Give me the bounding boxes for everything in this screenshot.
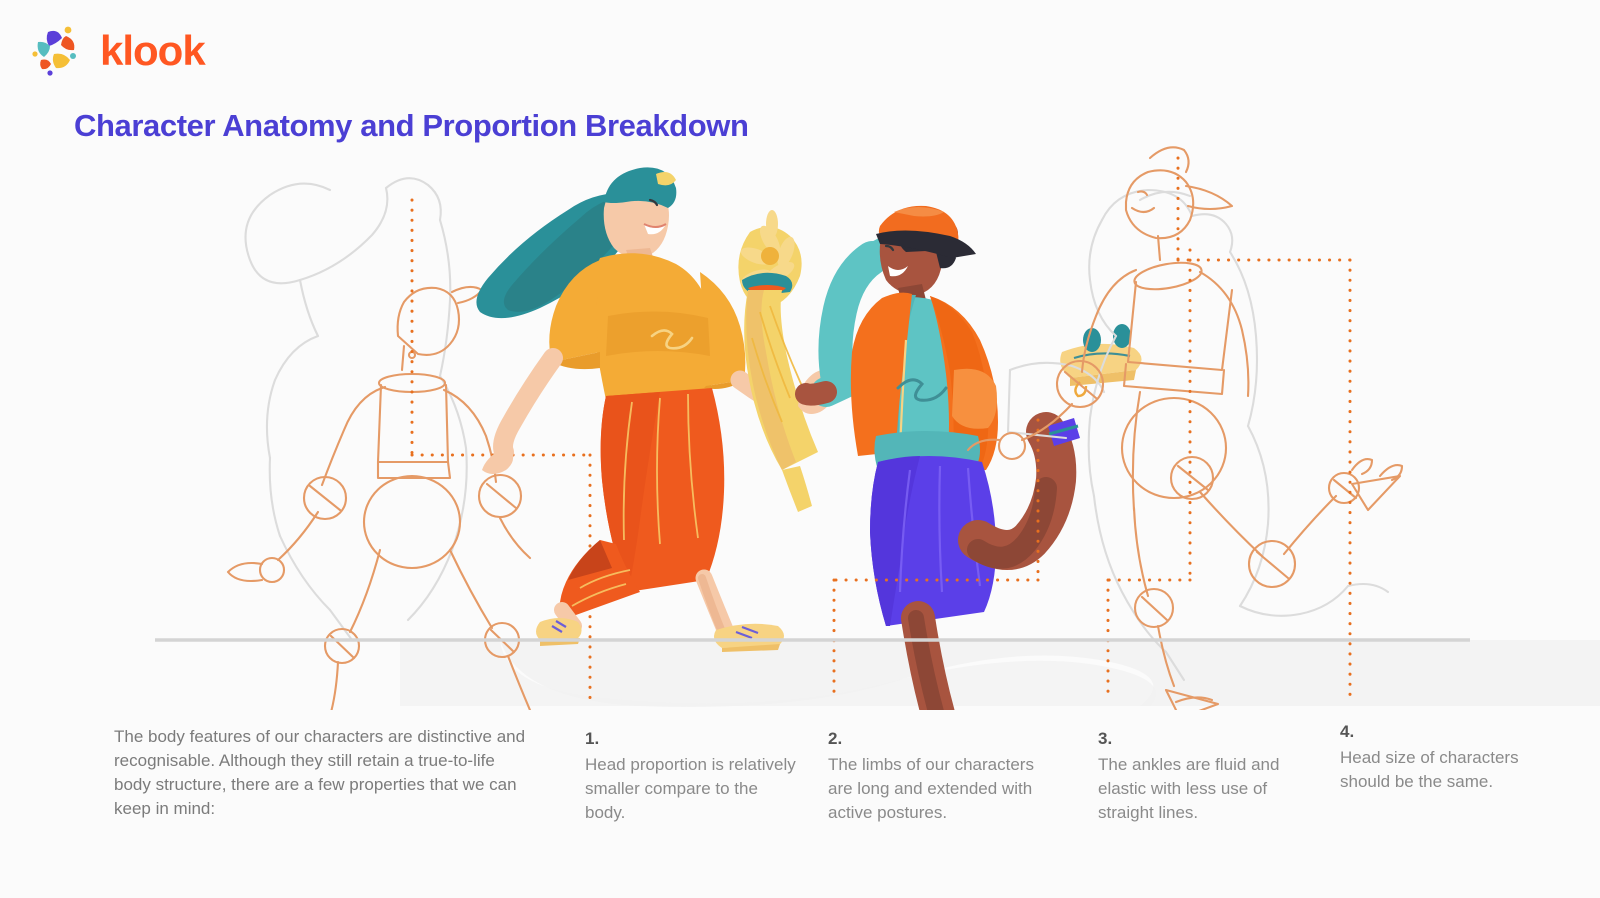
footer-notes: The body features of our characters are … <box>0 700 1600 898</box>
guide-line-4 <box>1178 158 1350 700</box>
note-item-3: 3. The ankles are fluid and elastic with… <box>1098 727 1303 826</box>
note-number-1: 1. <box>585 727 800 751</box>
note-number-3: 3. <box>1098 727 1303 751</box>
note-number-4: 4. <box>1340 720 1530 744</box>
brand-logo[interactable]: klook <box>28 22 205 80</box>
note-item-1: 1. Head proportion is relatively smaller… <box>585 727 800 826</box>
intro-paragraph: The body features of our characters are … <box>114 725 534 822</box>
character-woman-bouquet <box>476 167 832 652</box>
brand-wordmark: klook <box>100 30 205 72</box>
page-title: Character Anatomy and Proportion Breakdo… <box>74 108 749 144</box>
character-anatomy-illustration: .wf { fill:none; stroke:#e59a66; stroke-… <box>0 140 1600 710</box>
note-text-4: Head size of characters should be the sa… <box>1340 748 1519 791</box>
note-text-2: The limbs of our characters are long and… <box>828 755 1034 822</box>
klook-pinwheel-logo-icon <box>28 22 86 80</box>
infographic-page: klook Character Anatomy and Proportion B… <box>0 0 1600 898</box>
note-item-2: 2. The limbs of our characters are long … <box>828 727 1053 826</box>
note-text-1: Head proportion is relatively smaller co… <box>585 755 796 822</box>
note-number-2: 2. <box>828 727 1053 751</box>
note-text-3: The ankles are fluid and elastic with le… <box>1098 755 1279 822</box>
note-item-4: 4. Head size of characters should be the… <box>1340 720 1530 794</box>
